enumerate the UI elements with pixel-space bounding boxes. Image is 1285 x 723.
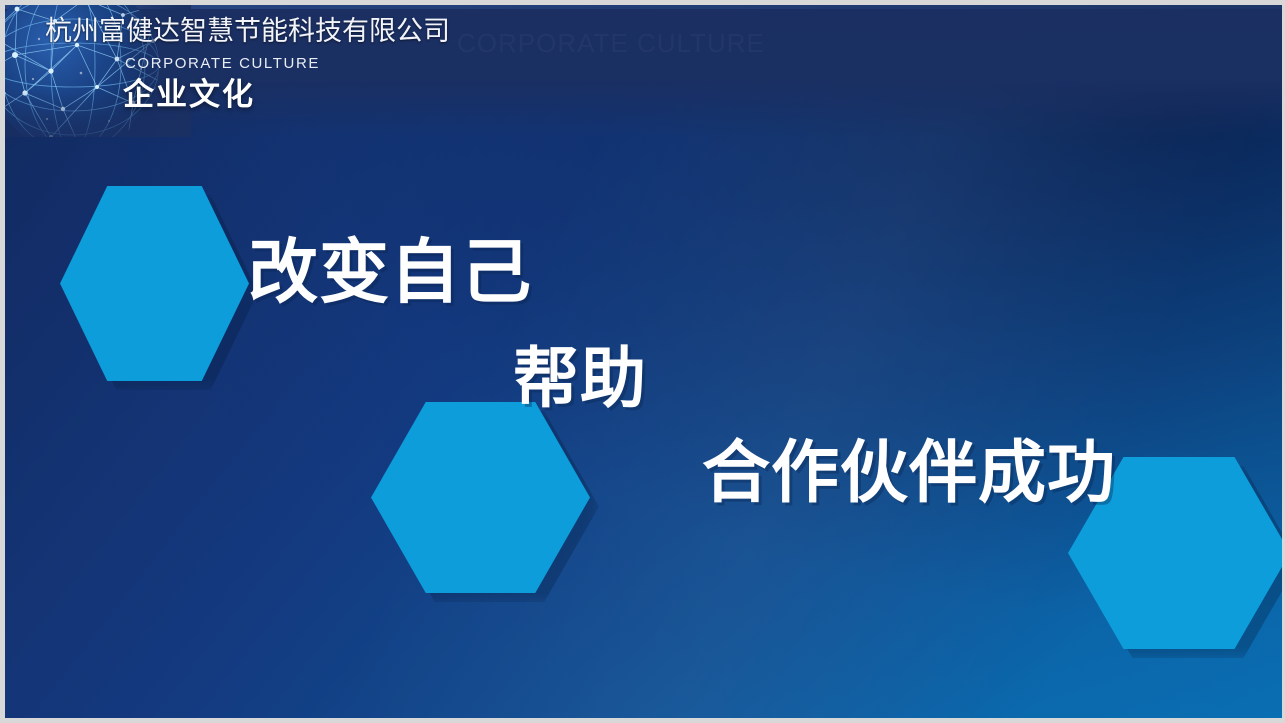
presentation-slide: CORPORATE CULTURE xyxy=(0,0,1285,723)
section-title-chinese: 企业文化 xyxy=(123,75,255,115)
header-watermark-text: CORPORATE CULTURE xyxy=(457,27,765,59)
phrase-partner-success: 合作伙伴成功 xyxy=(702,433,1116,513)
phrase-help: 帮助 xyxy=(513,339,647,417)
company-name: 杭州富健达智慧节能科技有限公司 xyxy=(45,14,450,48)
header-top-accent-line xyxy=(5,5,1282,9)
section-title-english: CORPORATE CULTURE xyxy=(125,54,320,73)
phrase-change-yourself: 改变自己 xyxy=(248,231,532,313)
header-banner: CORPORATE CULTURE xyxy=(5,5,1282,137)
slide-background: CORPORATE CULTURE xyxy=(5,5,1282,718)
